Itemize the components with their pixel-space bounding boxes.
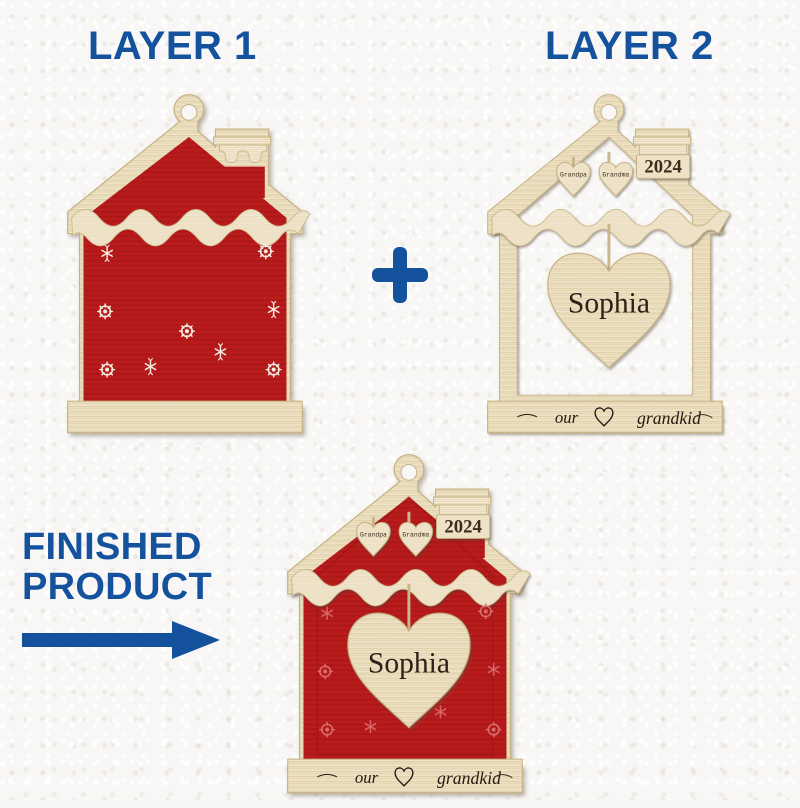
bottom-plank: our grandkid xyxy=(288,759,523,793)
bottom-text-left: our xyxy=(355,768,379,787)
finished-product-ornament: 2024 Grandpa Grandma Sophia our xyxy=(268,458,538,808)
finished-product-heading-line2: PRODUCT xyxy=(22,567,222,607)
layer1-heading: LAYER 1 xyxy=(88,24,257,69)
bottom-text-right: grandkid xyxy=(437,768,501,788)
layer2-ornament: 2024 Grandpa Grandma Sophia our grandkid xyxy=(468,98,738,448)
right-arrow-icon xyxy=(22,617,222,663)
finished-product-heading-line1: FINISHED xyxy=(22,527,222,567)
layer1-ornament xyxy=(48,98,318,448)
family-heart-label-2: Grandma xyxy=(602,171,629,178)
bottom-plank: our grandkid xyxy=(488,401,723,433)
family-heart-label-1: Grandpa xyxy=(360,531,387,538)
family-heart-label-2: Grandma xyxy=(402,531,429,538)
family-heart-grandpa: Grandpa xyxy=(557,162,591,196)
name-heart: Sophia xyxy=(548,253,670,368)
plus-icon xyxy=(369,244,431,306)
year-tag-text: 2024 xyxy=(444,516,482,537)
personalized-name-text: Sophia xyxy=(368,647,450,679)
layer2-heading: LAYER 2 xyxy=(545,24,714,69)
personalized-name-text: Sophia xyxy=(568,287,650,319)
bottom-text-right: grandkid xyxy=(637,408,701,428)
chimney-year-tag: 2024 xyxy=(634,137,691,178)
chimney-year-tag: 2024 xyxy=(434,497,491,538)
year-tag-text: 2024 xyxy=(644,156,682,177)
family-heart-label-1: Grandpa xyxy=(560,171,587,178)
family-heart-grandma: Grandma xyxy=(599,162,633,196)
finished-product-block: FINISHED PRODUCT xyxy=(22,527,222,663)
bottom-text-left: our xyxy=(555,408,579,427)
